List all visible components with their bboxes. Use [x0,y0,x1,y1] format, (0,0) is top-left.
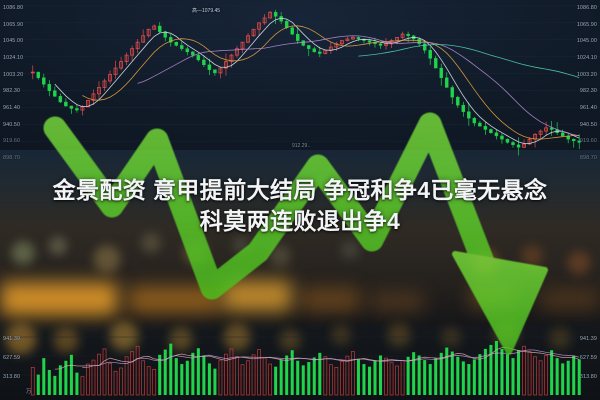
headline-line-1: 金景配资 意甲提前大结局 争冠和争4已毫无悬念 [0,178,600,202]
screenshot-root: 1086.801086.801065.901065.901045.001045.… [0,0,600,400]
headline-line-2: 科莫两连败退出争4 [0,209,600,233]
